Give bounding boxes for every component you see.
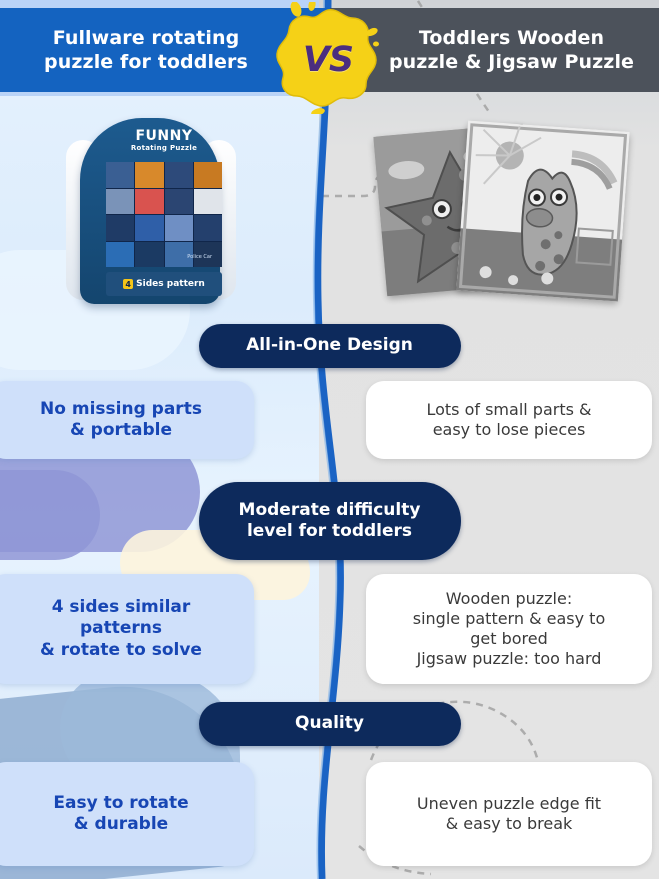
- toy-puzzle-grid: [106, 162, 222, 267]
- decorative-blob-purple-small: [0, 470, 100, 560]
- toy-brand-sub: Rotating Puzzle: [102, 144, 226, 152]
- toy-body: FUNNY Rotating Puzzle Police Car 4 Sides…: [80, 118, 220, 304]
- vs-label: VS: [272, 2, 384, 114]
- wooden-puzzle-giraffe: [456, 121, 629, 302]
- right-feature-card-1: Lots of small parts &easy to lose pieces: [366, 381, 652, 459]
- category-pill-quality: Quality: [199, 702, 461, 746]
- toy-brand-main: FUNNY: [102, 128, 226, 144]
- toy-badge-number: 4: [123, 279, 133, 289]
- header-left-title: Fullware rotatingpuzzle for toddlers: [44, 26, 286, 75]
- right-feature-card-2: Wooden puzzle:single pattern & easy toge…: [366, 574, 652, 684]
- vs-badge: VS: [272, 2, 384, 114]
- toy-footer-label: Sides pattern: [136, 279, 205, 289]
- toy-brand: FUNNY Rotating Puzzle: [102, 128, 226, 152]
- category-pill-all-in-one-design: All-in-One Design: [199, 324, 461, 368]
- right-feature-card-3: Uneven puzzle edge fit& easy to break: [366, 762, 652, 866]
- product-image-wooden-puzzles: [370, 120, 630, 310]
- left-feature-card-3: Easy to rotate& durable: [0, 762, 254, 866]
- header-right-title: Toddlers Woodenpuzzle & Jigsaw Puzzle: [355, 26, 634, 75]
- toy-image-caption: Police Car: [187, 254, 212, 260]
- toy-footer: 4 Sides pattern: [106, 272, 222, 296]
- comparison-infographic: Fullware rotatingpuzzle for toddlers Tod…: [0, 0, 659, 879]
- category-pill-difficulty: Moderate difficultylevel for toddlers: [199, 482, 461, 560]
- left-feature-card-1: No missing parts& portable: [0, 381, 254, 459]
- left-feature-card-2: 4 sides similarpatterns& rotate to solve: [0, 574, 254, 684]
- product-image-rotating-puzzle: FUNNY Rotating Puzzle Police Car 4 Sides…: [66, 118, 236, 308]
